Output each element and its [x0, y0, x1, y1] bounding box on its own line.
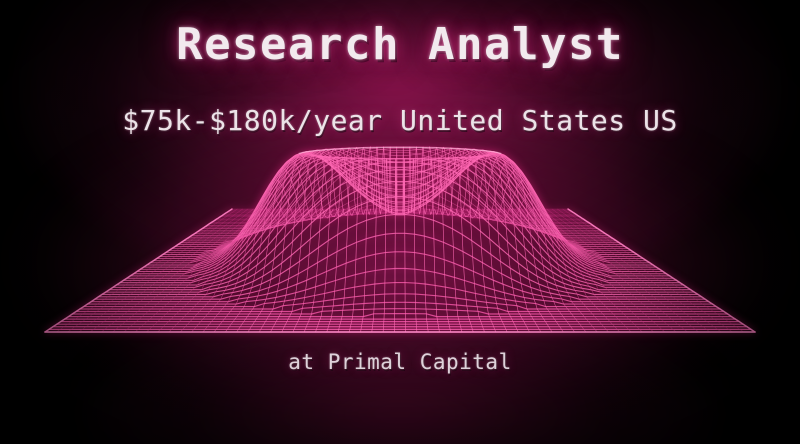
promo-card: Research Analyst $75k-$180k/year United …: [0, 0, 800, 444]
page-title: Research Analyst: [0, 18, 800, 72]
text-layer: Research Analyst $75k-$180k/year United …: [0, 0, 800, 444]
company-caption: at Primal Capital: [0, 348, 800, 376]
bottom-halo-glow: [90, 314, 710, 444]
salary-location-subtitle: $75k-$180k/year United States US: [0, 104, 800, 138]
